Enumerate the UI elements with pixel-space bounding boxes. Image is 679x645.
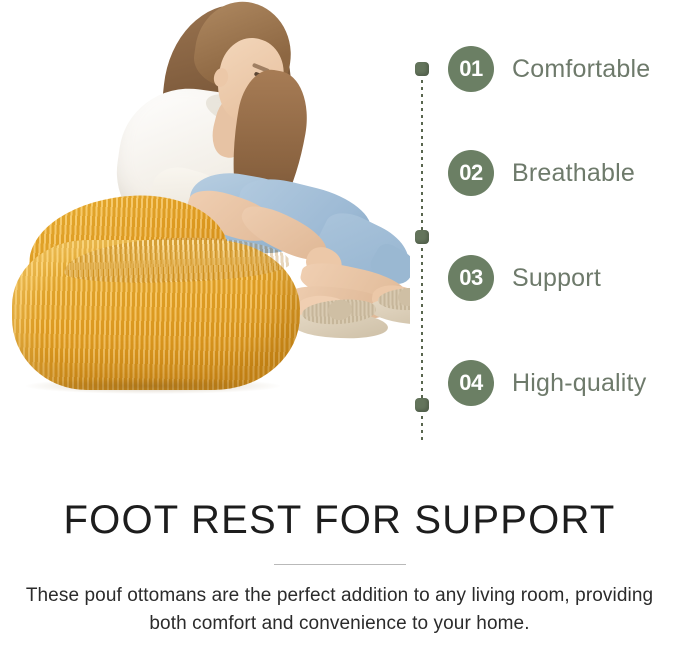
connector-node-bottom	[415, 398, 429, 412]
feature-number-badge-04: 04	[448, 360, 494, 406]
connector-node-middle	[415, 230, 429, 244]
feature-label-comfortable: Comfortable	[512, 55, 650, 84]
bottom-text-section: FOOT REST FOR SUPPORT These pouf ottoman…	[0, 455, 679, 645]
feature-list: 01 Comfortable 02 Breathable 03 Support …	[408, 50, 679, 420]
pouf-ottoman-product	[12, 196, 300, 401]
connector-node-top	[415, 62, 429, 76]
feature-number-badge-02: 02	[448, 150, 494, 196]
feature-item-support: 03 Support	[448, 255, 601, 301]
page-headline: FOOT REST FOR SUPPORT	[0, 455, 679, 540]
headline-divider	[274, 564, 406, 565]
feature-label-support: Support	[512, 264, 601, 293]
feature-item-breathable: 02 Breathable	[448, 150, 635, 196]
top-section: 01 Comfortable 02 Breathable 03 Support …	[0, 0, 679, 455]
product-lifestyle-photo	[0, 0, 410, 455]
feature-number-badge-03: 03	[448, 255, 494, 301]
feature-item-comfortable: 01 Comfortable	[448, 46, 650, 92]
feature-number-badge-01: 01	[448, 46, 494, 92]
dotted-connector-line	[421, 66, 423, 440]
feature-item-high-quality: 04 High-quality	[448, 360, 646, 406]
feature-label-breathable: Breathable	[512, 159, 635, 188]
infographic-page: 01 Comfortable 02 Breathable 03 Support …	[0, 0, 679, 645]
product-description: These pouf ottomans are the perfect addi…	[15, 582, 665, 637]
ottoman-floor-shadow	[26, 378, 280, 394]
feature-label-high-quality: High-quality	[512, 369, 646, 398]
